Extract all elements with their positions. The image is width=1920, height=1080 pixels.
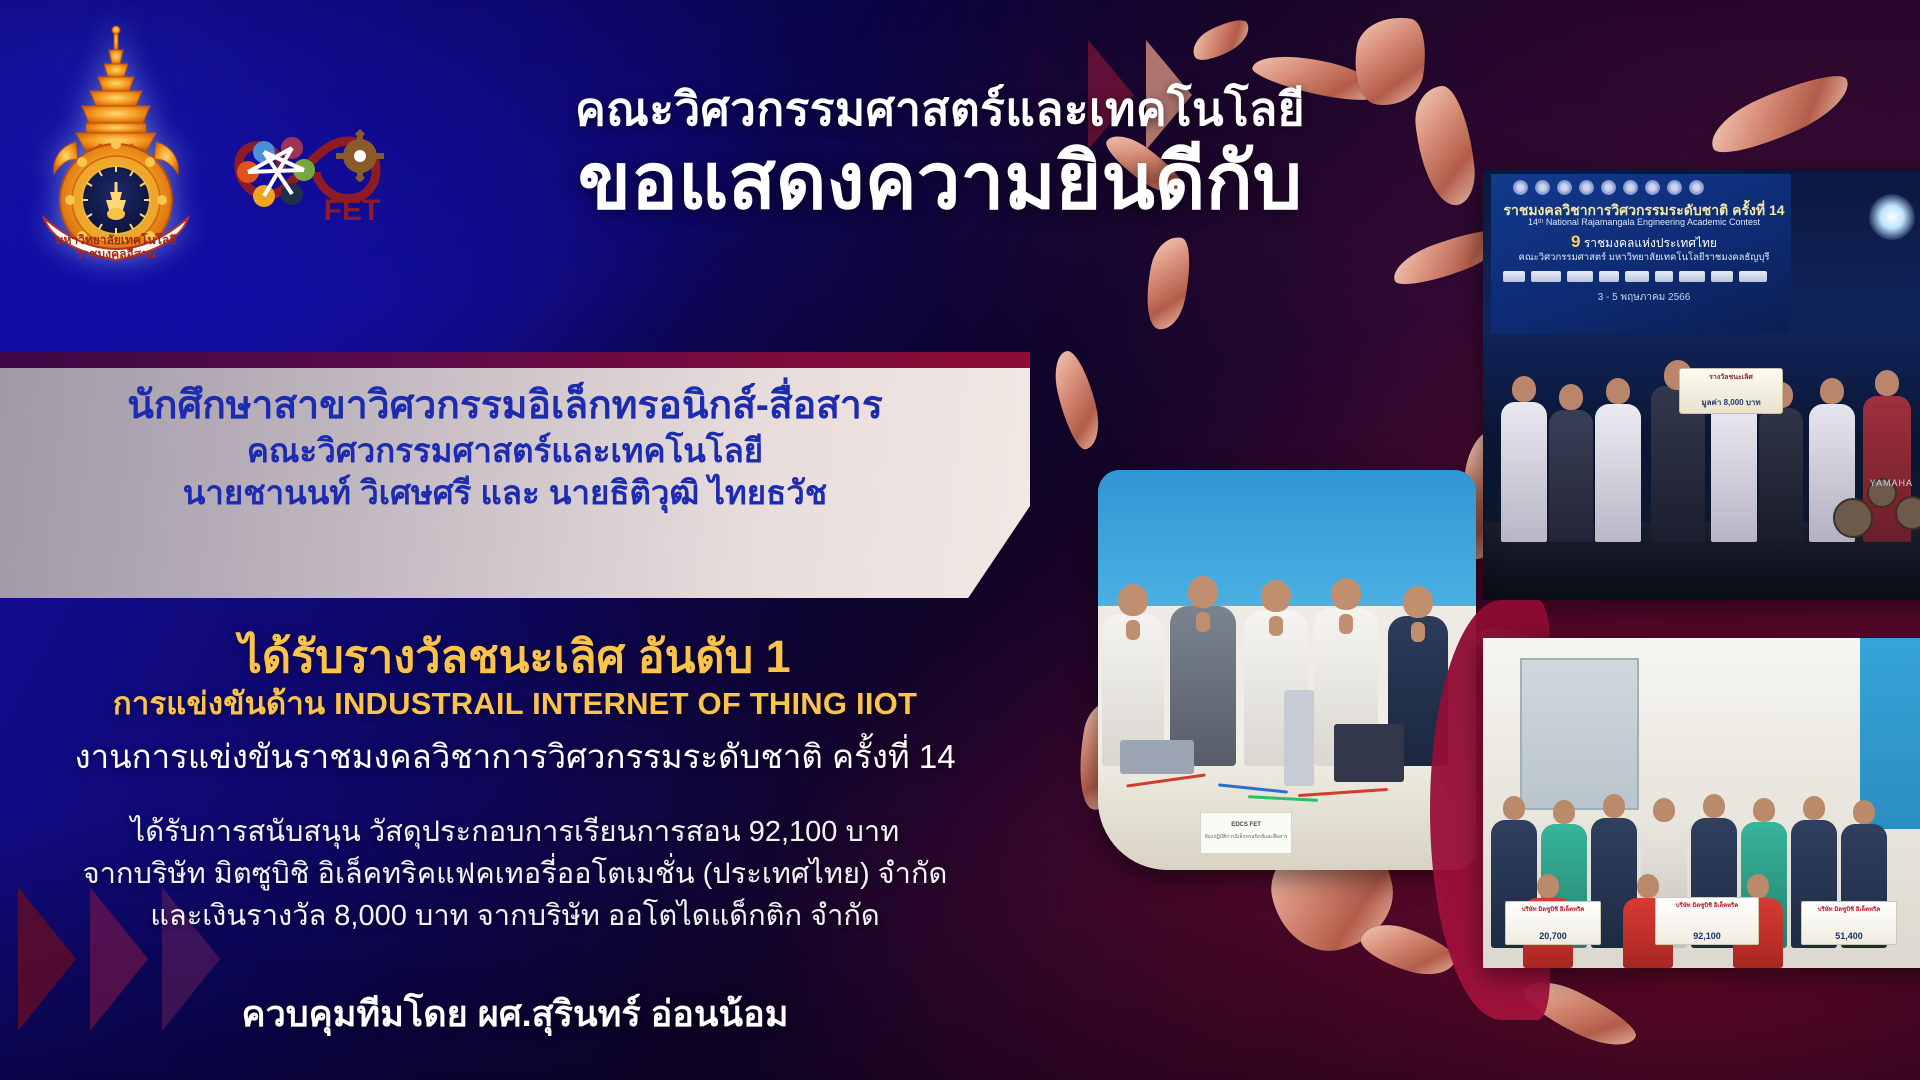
banner-seals	[1513, 180, 1704, 195]
award-block: ได้รับรางวัลชนะเลิศ อันดับ 1 การแข่งขันด…	[0, 630, 1030, 779]
ceremony-sponsor-logos	[1503, 268, 1788, 284]
ceremony-banner-number-text: ราชมงคลแห่งประเทศไทย	[1584, 236, 1717, 250]
svg-text:ราชมงคลอีสาน: ราชมงคลอีสาน	[76, 247, 157, 261]
support-block: ได้รับการสนับสนุน วัสดุประกอบการเรียนการ…	[0, 812, 1030, 937]
student-info-text: นักศึกษาสาขาวิศวกรรมอิเล็กทรอนิกส์-สื่อส…	[0, 382, 1010, 515]
student-names-line: นายชานนท์ วิเศษศรี และ นายธิติวุฒิ ไทยธว…	[0, 472, 1010, 515]
lab-sign-line1: EDCS FET	[1201, 822, 1291, 828]
cheque-3-label: บริษัท มิตซูบิชิ อิเล็คทริค	[1804, 904, 1894, 914]
stage-spotlight	[1869, 194, 1915, 240]
congratulations-banner: มหาวิทยาลัยเทคโนโลยี ราชมงคลอีสาน	[0, 0, 1920, 1080]
lab-info-sign: EDCS FET ห้องปฏิบัติการอิเล็กทรอนิกส์และ…	[1200, 812, 1292, 854]
congratulations-title: ขอแสดงความยินดีกับ	[480, 139, 1400, 223]
ceremony-banner-date: 3 - 5 พฤษภาคม 2566	[1499, 290, 1789, 305]
cheque-1-label: บริษัท มิตซูบิชิ อิเล็คทริค	[1508, 904, 1598, 914]
support-line-1: ได้รับการสนับสนุน วัสดุประกอบการเรียนการ…	[0, 812, 1030, 854]
ceremony-stage-banner: ราชมงคลวิชาการวิศวกรรมระดับชาติ ครั้งที่…	[1491, 174, 1791, 334]
fet-logo-label: FET	[324, 194, 381, 227]
coach-line: ควบคุมทีมโดย ผศ.สุรินทร์ อ่อนน้อม	[0, 985, 1030, 1042]
cheque-3: บริษัท มิตซูบิชิ อิเล็คทริค 51,400	[1801, 901, 1897, 945]
support-line-2: จากบริษัท มิตซูบิชิ อิเล็คทริคแฟคเทอรี่อ…	[0, 854, 1030, 896]
cheque-2: บริษัท มิตซูบิชิ อิเล็คทริค 92,100	[1655, 897, 1759, 945]
cheque-3-amount: 51,400	[1804, 931, 1894, 941]
rmuti-emblem: มหาวิทยาลัยเทคโนโลยี ราชมงคลอีสาน	[30, 22, 202, 272]
cheque-1: บริษัท มิตซูบิชิ อิเล็คทริค 20,700	[1505, 901, 1601, 945]
cheque-1-amount: 20,700	[1508, 931, 1598, 941]
room-door	[1520, 658, 1640, 810]
award-event: งานการแข่งขันราชมงคลวิชาการวิศวกรรมระดับ…	[0, 736, 1030, 779]
cheque-2-label: บริษัท มิตซูบิชิ อิเล็คทริค	[1658, 900, 1756, 910]
ceremony-banner-org: คณะวิศวกรรมศาสตร์ มหาวิทยาลัยเทคโนโลยีรา…	[1499, 250, 1789, 265]
svg-text:มหาวิทยาลัยเทคโนโลยี: มหาวิทยาลัยเทคโนโลยี	[56, 232, 177, 247]
ceremony-banner-number: 9	[1571, 232, 1580, 251]
fet-logo: FET	[220, 108, 406, 236]
faculty-title: คณะวิศวกรรมศาสตร์และเทคโนโลยี	[480, 84, 1400, 135]
student-faculty-line: คณะวิศวกรรมศาสตร์และเทคโนโลยี	[0, 430, 1010, 473]
award-competition: การแข่งขันด้าน INDUSTRAIL INTERNET OF TH…	[0, 685, 1030, 724]
support-line-3: และเงินรางวัล 8,000 บาท จากบริษัท ออโตได…	[0, 896, 1030, 938]
student-program-line: นักศึกษาสาขาวิศวกรรมอิเล็กทรอนิกส์-สื่อส…	[0, 382, 1010, 430]
cheque-2-amount: 92,100	[1658, 931, 1756, 941]
stage-drum-label: YAMAHA	[1870, 478, 1913, 488]
ceremony-award-cheque: รางวัลชนะเลิศ มูลค่า 8,000 บาท	[1679, 368, 1783, 414]
header-block: คณะวิศวกรรมศาสตร์และเทคโนโลยี ขอแสดงความ…	[480, 84, 1400, 223]
lab-team-photo: EDCS FET ห้องปฏิบัติการอิเล็กทรอนิกส์และ…	[1098, 470, 1476, 870]
coach-block: ควบคุมทีมโดย ผศ.สุรินทร์ อ่อนน้อม	[0, 985, 1030, 1042]
cheque-presentation-photo: บริษัท มิตซูบิชิ อิเล็คทริค 20,700 บริษั…	[1483, 638, 1920, 968]
award-headline: ได้รับรางวัลชนะเลิศ อันดับ 1	[0, 630, 1030, 683]
logo-group: มหาวิทยาลัยเทคโนโลยี ราชมงคลอีสาน	[30, 22, 406, 272]
ceremony-banner-subtitle: 14ᵗʰ National Rajamangala Engineering Ac…	[1499, 217, 1789, 227]
panel-accent-strip	[0, 352, 1030, 370]
ceremony-cheque-amount: มูลค่า 8,000 บาท	[1683, 396, 1779, 409]
ceremony-cheque-top: รางวัลชนะเลิศ	[1683, 372, 1779, 383]
award-ceremony-photo: ราชมงคลวิชาการวิศวกรรมระดับชาติ ครั้งที่…	[1483, 170, 1920, 600]
lab-sign-line2: ห้องปฏิบัติการอิเล็กทรอนิกส์และสื่อสาร	[1201, 833, 1291, 841]
